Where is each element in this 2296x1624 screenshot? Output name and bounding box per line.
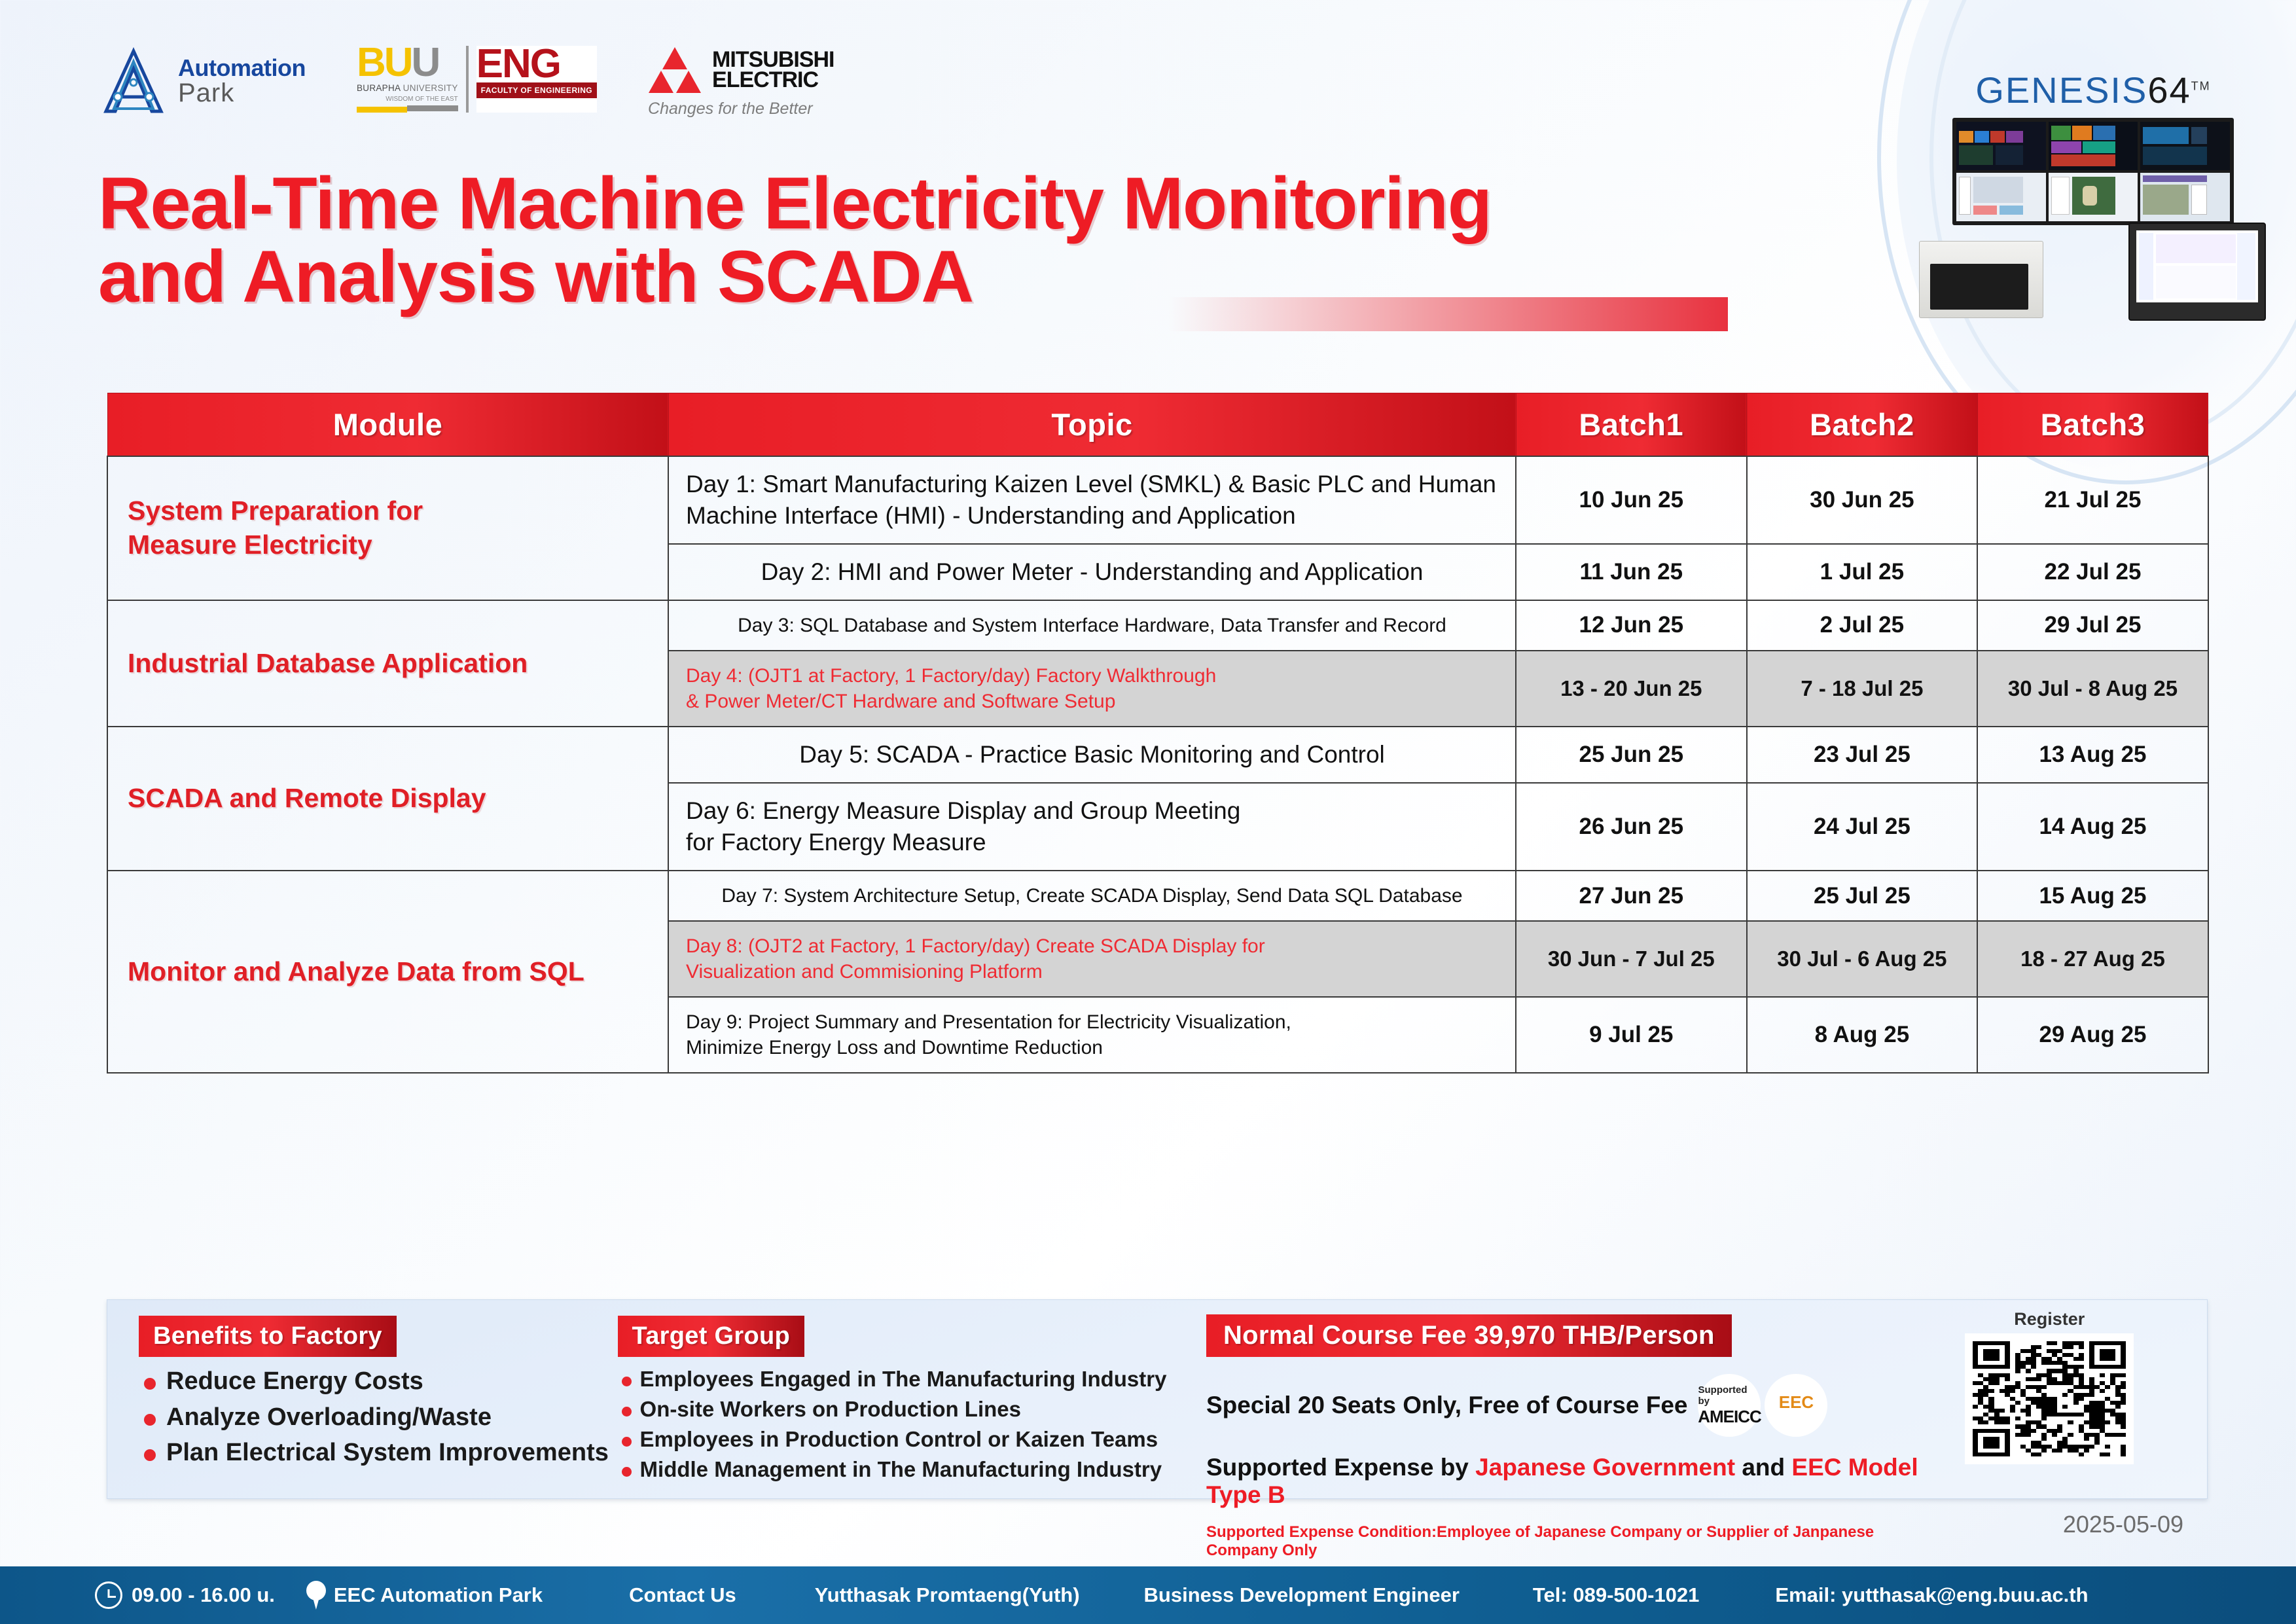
topic-cell: Day 8: (OJT2 at Factory, 1 Factory/day) … [668, 921, 1516, 997]
th-batch1: Batch1 [1516, 393, 1747, 456]
footer-hours-text: 09.00 - 16.00 u. [132, 1583, 275, 1607]
topic-cell: Day 3: SQL Database and System Interface… [668, 600, 1516, 651]
hmi-panel-icon [2128, 223, 2266, 321]
supported-by-caption: Supported by [1698, 1384, 1761, 1407]
table-row: SCADA and Remote Display Day 5: SCADA - … [107, 727, 2208, 783]
date-cell-batch1: 27 Jun 25 [1516, 871, 1747, 921]
target-group-heading: Target Group [618, 1316, 804, 1357]
date-cell-batch3: 14 Aug 25 [1977, 783, 2208, 871]
date-cell-batch3: 13 Aug 25 [1977, 727, 2208, 783]
date-cell-batch1: 25 Jun 25 [1516, 727, 1747, 783]
th-batch3: Batch3 [1977, 393, 2208, 456]
genesis-product-photo [1916, 118, 2270, 314]
clock-icon [95, 1581, 122, 1609]
date-cell-batch2: 30 Jul - 6 Aug 25 [1747, 921, 1978, 997]
eng-subtitle: FACULTY OF ENGINEERING [476, 82, 597, 98]
topic-cell: Day 9: Project Summary and Presentation … [668, 997, 1516, 1073]
list-item: Analyze Overloading/Waste [139, 1403, 611, 1432]
schedule-table-wrapper: Module Topic Batch1 Batch2 Batch3 System… [107, 393, 2208, 1074]
fee-seats-line: Special 20 Seats Only, Free of Course Fe… [1206, 1392, 1688, 1419]
monitor-wall-icon [1952, 118, 2234, 225]
expense-mid: and [1735, 1454, 1791, 1481]
list-item: Reduce Energy Costs [139, 1367, 611, 1396]
date-cell-batch1: 12 Jun 25 [1516, 600, 1747, 651]
module-cell-2: Industrial Database Application [107, 600, 668, 727]
register-qr-code[interactable] [1965, 1333, 2134, 1464]
fee-section: Normal Course Fee 39,970 THB/Person Spec… [1187, 1300, 1945, 1498]
th-module: Module [107, 393, 668, 456]
list-item: Middle Management in The Manufacturing I… [618, 1458, 1187, 1482]
expense-red-1: Japanese Government [1475, 1454, 1735, 1481]
automation-park-logo: Automation Park [98, 46, 306, 117]
table-row: Industrial Database Application Day 3: S… [107, 600, 2208, 651]
mitsubishi-tagline: Changes for the Better [648, 99, 834, 118]
footer-venue-text: EEC Automation Park [334, 1583, 543, 1607]
date-cell-batch2: 1 Jul 25 [1747, 544, 1978, 600]
date-cell-batch2: 2 Jul 25 [1747, 600, 1978, 651]
plc-module-icon [1919, 241, 2043, 318]
footer-person: Yutthasak Promtaeng(Yuth) [815, 1583, 1080, 1607]
table-row: System Preparation forMeasure Electricit… [107, 456, 2208, 544]
topic-cell: Day 2: HMI and Power Meter - Understandi… [668, 544, 1516, 600]
location-pin-icon [306, 1581, 326, 1610]
module-cell-1: System Preparation forMeasure Electricit… [107, 456, 668, 600]
expense-condition: Supported Expense Condition:Employee of … [1206, 1523, 1945, 1560]
footer-tel[interactable]: Tel: 089-500-1021 [1533, 1583, 1699, 1607]
date-cell-batch1: 9 Jul 25 [1516, 997, 1747, 1073]
benefits-list: Reduce Energy Costs Analyze Overloading/… [139, 1367, 611, 1467]
date-cell-batch1: 13 - 20 Jun 25 [1516, 651, 1747, 727]
genesis-number: 64 [2147, 69, 2191, 111]
date-cell-batch3: 29 Jul 25 [1977, 600, 2208, 651]
partner-logos: Automation Park BUU BURAPHA UNIVERSITY W… [98, 46, 834, 118]
date-cell-batch1: 10 Jun 25 [1516, 456, 1747, 544]
list-item: Employees in Production Control or Kaize… [618, 1428, 1187, 1452]
date-cell-batch2: 30 Jun 25 [1747, 456, 1978, 544]
mitsubishi-electric-logo: MITSUBISHI ELECTRIC Changes for the Bett… [648, 46, 834, 118]
topic-cell: Day 6: Energy Measure Display and Group … [668, 783, 1516, 871]
buu-u-text: U [412, 40, 439, 85]
automation-park-line2: Park [178, 80, 306, 106]
title-line2: and Analysis with SCADA [98, 236, 973, 317]
info-panel: Benefits to Factory Reduce Energy Costs … [107, 1299, 2208, 1499]
ameicc-text: AMEICC [1698, 1407, 1761, 1427]
topic-cell: Day 1: Smart Manufacturing Kaizen Level … [668, 456, 1516, 544]
buu-sub-bold: BURAPHA [357, 83, 401, 93]
automation-park-line1: Automation [178, 56, 306, 80]
buu-divider [466, 46, 469, 113]
date-cell-batch2: 7 - 18 Jul 25 [1747, 651, 1978, 727]
buu-sub-light: UNIVERSITY [403, 83, 458, 93]
target-group-section: Target Group Employees Engaged in The Ma… [611, 1300, 1187, 1498]
th-batch2: Batch2 [1747, 393, 1978, 456]
schedule-table: Module Topic Batch1 Batch2 Batch3 System… [107, 393, 2209, 1074]
table-row: Monitor and Analyze Data from SQL Day 7:… [107, 871, 2208, 921]
th-topic: Topic [668, 393, 1516, 456]
module-cell-4: Monitor and Analyze Data from SQL [107, 871, 668, 1073]
topic-cell: Day 5: SCADA - Practice Basic Monitoring… [668, 727, 1516, 783]
date-cell-batch2: 8 Aug 25 [1747, 997, 1978, 1073]
list-item: On-site Workers on Production Lines [618, 1398, 1187, 1422]
date-cell-batch3: 22 Jul 25 [1977, 544, 2208, 600]
date-cell-batch3: 21 Jul 25 [1977, 456, 2208, 544]
date-cell-batch3: 18 - 27 Aug 25 [1977, 921, 2208, 997]
footer-email[interactable]: Email: yutthasak@eng.buu.ac.th [1775, 1583, 2088, 1607]
date-cell-batch3: 29 Aug 25 [1977, 997, 2208, 1073]
page-title: Real-Time Machine Electricity Monitoring… [98, 167, 1800, 314]
mitsubishi-line2: ELECTRIC [712, 70, 834, 90]
target-group-list: Employees Engaged in The Manufacturing I… [618, 1367, 1187, 1482]
register-section: Register [1945, 1300, 2207, 1498]
benefits-section: Benefits to Factory Reduce Energy Costs … [107, 1300, 611, 1498]
footer-bar: 09.00 - 16.00 u. EEC Automation Park Con… [0, 1566, 2296, 1624]
topic-cell: Day 4: (OJT1 at Factory, 1 Factory/day) … [668, 651, 1516, 727]
fee-heading: Normal Course Fee 39,970 THB/Person [1206, 1314, 1732, 1357]
genesis64-panel: GENESIS64TM [1916, 69, 2270, 314]
table-header-row: Module Topic Batch1 Batch2 Batch3 [107, 393, 2208, 456]
title-accent-bar [1168, 297, 1728, 331]
list-item: Plan Electrical System Improvements [139, 1439, 611, 1467]
mitsubishi-three-diamonds-icon [648, 46, 702, 94]
buu-bu-text: BU [357, 40, 412, 85]
genesis-tm: TM [2191, 79, 2211, 92]
automation-park-mark-icon [98, 46, 169, 117]
date-cell-batch1: 11 Jun 25 [1516, 544, 1747, 600]
ameicc-logo-icon: Supported by AMEICC [1698, 1374, 1761, 1437]
module-cell-3: SCADA and Remote Display [107, 727, 668, 871]
topic-cell: Day 7: System Architecture Setup, Create… [668, 871, 1516, 921]
date-cell-batch1: 26 Jun 25 [1516, 783, 1747, 871]
footer-role: Business Development Engineer [1144, 1583, 1460, 1607]
date-cell-batch2: 23 Jul 25 [1747, 727, 1978, 783]
genesis-name: GENESIS [1975, 69, 2147, 111]
buu-eng-logo: BUU BURAPHA UNIVERSITY WISDOM OF THE EAS… [357, 46, 597, 113]
register-label: Register [1965, 1309, 2134, 1329]
eng-text: ENG [476, 46, 597, 82]
eec-logo-icon: EEC [1765, 1374, 1827, 1437]
eec-subtext [1795, 1413, 1797, 1418]
expense-prefix: Supported Expense by [1206, 1454, 1475, 1481]
footer-venue: EEC Automation Park [306, 1581, 543, 1610]
date-cell-batch2: 25 Jul 25 [1747, 871, 1978, 921]
date-cell-batch2: 24 Jul 25 [1747, 783, 1978, 871]
footer-contact-us: Contact Us [629, 1583, 736, 1607]
supporter-logos: Supported by AMEICC EEC [1698, 1374, 1827, 1437]
date-cell-batch3: 15 Aug 25 [1977, 871, 2208, 921]
eec-text: EEC [1779, 1392, 1814, 1413]
date-cell-batch1: 30 Jun - 7 Jul 25 [1516, 921, 1747, 997]
date-cell-batch3: 30 Jul - 8 Aug 25 [1977, 651, 2208, 727]
list-item: Employees Engaged in The Manufacturing I… [618, 1367, 1187, 1392]
benefits-heading: Benefits to Factory [139, 1316, 397, 1357]
date-stamp: 2025-05-09 [2063, 1511, 2183, 1538]
footer-hours: 09.00 - 16.00 u. [95, 1581, 275, 1609]
buu-sub-small: WISDOM OF THE EAST [357, 96, 458, 103]
title-line1: Real-Time Machine Electricity Monitoring [98, 162, 1492, 244]
